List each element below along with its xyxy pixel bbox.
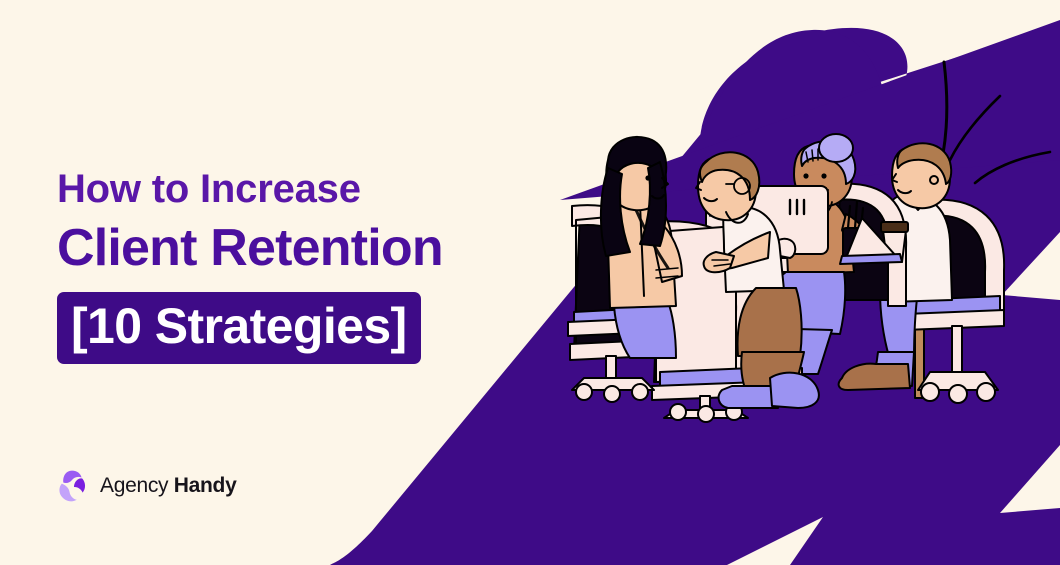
blog-cover-banner: How to Increase Client Retention [10 Str… <box>0 0 1060 565</box>
agency-handy-swirl-icon <box>55 469 89 503</box>
headline-block: How to Increase Client Retention [10 Str… <box>57 168 527 364</box>
brand-wordmark: Agency Handy <box>100 474 236 498</box>
headline-line-1: How to Increase <box>57 168 527 211</box>
brand-word-agency: Agency <box>100 474 168 497</box>
headline-line-2: Client Retention <box>57 221 527 276</box>
headline-highlight-box: [10 Strategies] <box>57 292 421 364</box>
brand-word-handy: Handy <box>168 474 236 497</box>
brand-logo[interactable]: Agency Handy <box>55 469 236 503</box>
headline-line-3: [10 Strategies] <box>71 301 407 351</box>
